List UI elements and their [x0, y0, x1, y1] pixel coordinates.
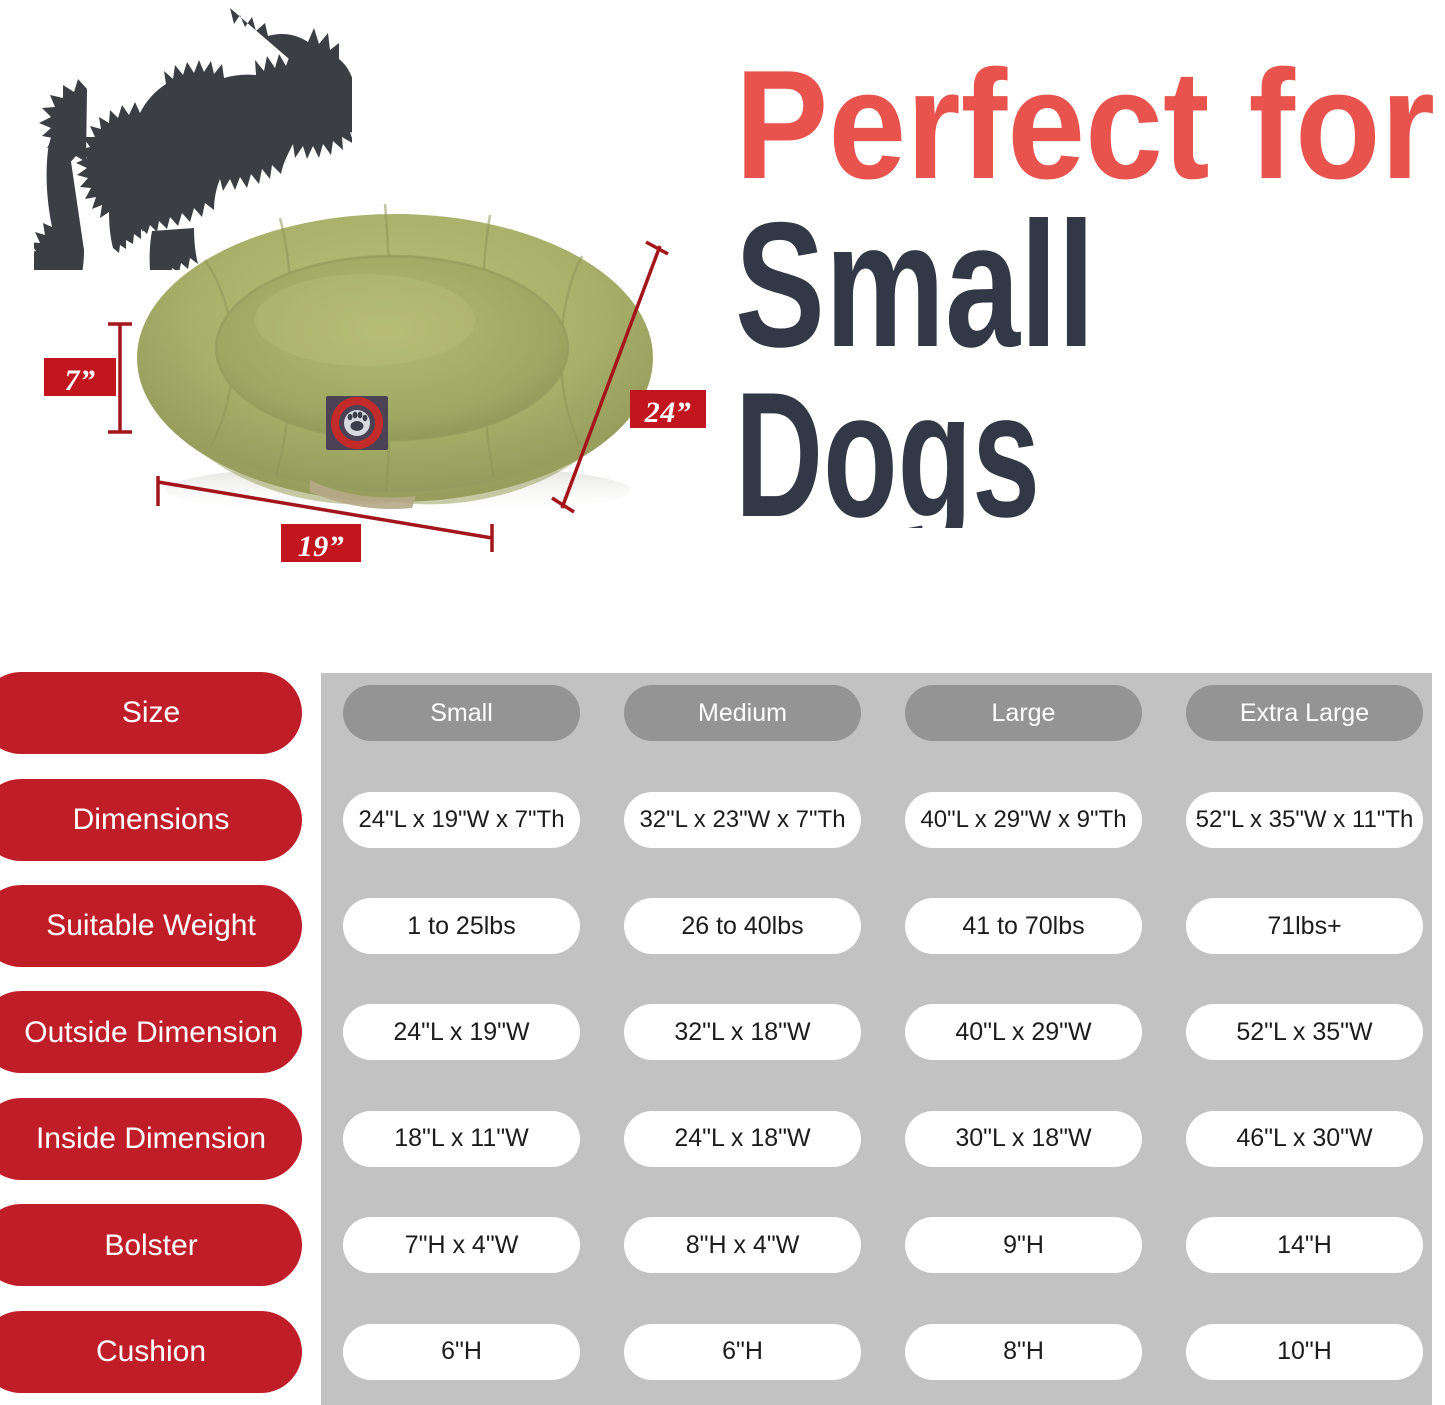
- row-label-cell-dimensions: Dimensions: [0, 779, 321, 861]
- height-callout-label: 7”: [44, 358, 116, 396]
- brand-tag: [326, 396, 388, 450]
- value-suitable-weight-medium: 26 to 40lbs: [624, 898, 861, 954]
- value-dimensions-extra-large: 52"L x 35"W x 11"Th: [1186, 792, 1423, 848]
- row-label-outside-dimension: Outside Dimension: [0, 991, 302, 1073]
- column-header-small: Small: [343, 685, 580, 741]
- column-header-large: Large: [905, 685, 1142, 741]
- table-cell: 14"H: [1164, 1217, 1445, 1273]
- row-label-suitable-weight: Suitable Weight: [0, 885, 302, 967]
- value-inside-dimension-small: 18"L x 11"W: [343, 1111, 580, 1167]
- table-cell: 8"H x 4"W: [602, 1217, 883, 1273]
- column-header-cell-large[interactable]: Large: [883, 685, 1164, 741]
- table-cell: 40"L x 29"W x 9"Th: [883, 792, 1164, 848]
- table-cell: 40"L x 29"W: [883, 1004, 1164, 1060]
- value-bolster-extra-large: 14"H: [1186, 1217, 1423, 1273]
- table-cell: 41 to 70lbs: [883, 898, 1164, 954]
- table-cell: 52"L x 35"W: [1164, 1004, 1445, 1060]
- page-title: Perfect for Small Dogs: [735, 28, 1435, 528]
- value-cushion-small: 6"H: [343, 1324, 580, 1380]
- value-suitable-weight-small: 1 to 25lbs: [343, 898, 580, 954]
- value-dimensions-small: 24"L x 19"W x 7"Th: [343, 792, 580, 848]
- table-cell: 6"H: [321, 1324, 602, 1380]
- value-dimensions-medium: 32"L x 23"W x 7"Th: [624, 792, 861, 848]
- row-label-size: Size: [0, 672, 302, 754]
- length-callout-label: 24”: [630, 390, 706, 428]
- row-label-cell-inside-dimension: Inside Dimension: [0, 1098, 321, 1180]
- row-label-cell-bolster: Bolster: [0, 1204, 321, 1286]
- table-cell: 24"L x 19"W x 7"Th: [321, 792, 602, 848]
- value-inside-dimension-extra-large: 46"L x 30"W: [1186, 1111, 1423, 1167]
- width-callout-label: 19”: [281, 524, 361, 562]
- table-cell: 24"L x 18"W: [602, 1111, 883, 1167]
- table-cell: 10"H: [1164, 1324, 1445, 1380]
- value-dimensions-large: 40"L x 29"W x 9"Th: [905, 792, 1142, 848]
- table-cell: 52"L x 35"W x 11"Th: [1164, 792, 1445, 848]
- value-suitable-weight-large: 41 to 70lbs: [905, 898, 1142, 954]
- column-header-cell-extra-large[interactable]: Extra Large: [1164, 685, 1445, 741]
- row-label-dimensions: Dimensions: [0, 779, 302, 861]
- value-suitable-weight-extra-large: 71lbs+: [1186, 898, 1423, 954]
- hero-section: 7” 24” 19” Perfect for Small Dogs: [0, 0, 1445, 660]
- row-label-bolster: Bolster: [0, 1204, 302, 1286]
- value-bolster-small: 7"H x 4"W: [343, 1217, 580, 1273]
- table-cell: 8"H: [883, 1324, 1164, 1380]
- row-label-cell-suitable-weight: Suitable Weight: [0, 885, 321, 967]
- table-cell: 71lbs+: [1164, 898, 1445, 954]
- value-inside-dimension-large: 30"L x 18"W: [905, 1111, 1142, 1167]
- value-outside-dimension-small: 24"L x 19"W: [343, 1004, 580, 1060]
- table-cell: 1 to 25lbs: [321, 898, 602, 954]
- value-bolster-medium: 8"H x 4"W: [624, 1217, 861, 1273]
- table-cell: 46"L x 30"W: [1164, 1111, 1445, 1167]
- length-dimension-line: [548, 236, 674, 532]
- row-label-cell-size: Size: [0, 672, 321, 754]
- column-header-cell-small[interactable]: Small: [321, 685, 602, 741]
- column-header-extra-large: Extra Large: [1186, 685, 1423, 741]
- value-outside-dimension-medium: 32"L x 18"W: [624, 1004, 861, 1060]
- table-cell: 24"L x 19"W: [321, 1004, 602, 1060]
- row-label-cell-outside-dimension: Outside Dimension: [0, 991, 321, 1073]
- table-cell: 30"L x 18"W: [883, 1111, 1164, 1167]
- value-cushion-medium: 6"H: [624, 1324, 861, 1380]
- value-bolster-large: 9"H: [905, 1217, 1142, 1273]
- table-cell: 32"L x 23"W x 7"Th: [602, 792, 883, 848]
- row-label-cushion: Cushion: [0, 1311, 302, 1393]
- headline-line-3: Dogs: [735, 355, 1040, 528]
- specification-table: Size Small Medium Large Extra Large Dime…: [0, 660, 1445, 1405]
- value-outside-dimension-large: 40"L x 29"W: [905, 1004, 1142, 1060]
- value-inside-dimension-medium: 24"L x 18"W: [624, 1111, 861, 1167]
- value-cushion-large: 8"H: [905, 1324, 1142, 1380]
- table-cell: 9"H: [883, 1217, 1164, 1273]
- row-label-inside-dimension: Inside Dimension: [0, 1098, 302, 1180]
- column-header-medium: Medium: [624, 685, 861, 741]
- table-cell: 18"L x 11"W: [321, 1111, 602, 1167]
- table-cell: 6"H: [602, 1324, 883, 1380]
- table-cell: 26 to 40lbs: [602, 898, 883, 954]
- table-cell: 7"H x 4"W: [321, 1217, 602, 1273]
- value-outside-dimension-extra-large: 52"L x 35"W: [1186, 1004, 1423, 1060]
- value-cushion-extra-large: 10"H: [1186, 1324, 1423, 1380]
- column-header-cell-medium[interactable]: Medium: [602, 685, 883, 741]
- table-cell: 32"L x 18"W: [602, 1004, 883, 1060]
- row-label-cell-cushion: Cushion: [0, 1311, 321, 1393]
